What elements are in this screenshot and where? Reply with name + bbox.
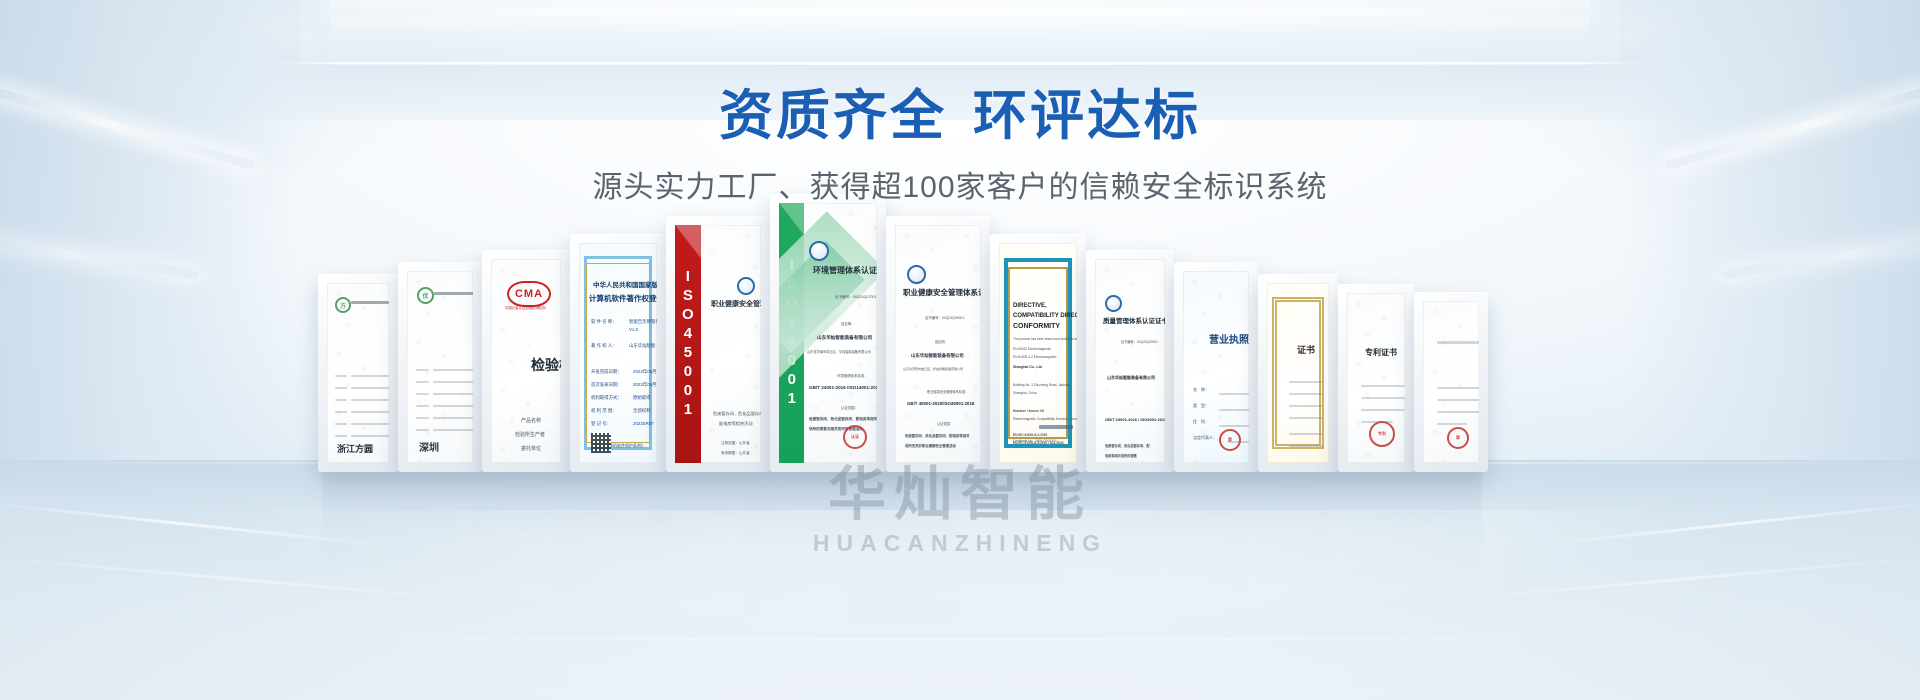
text-line [416,393,429,395]
standard-value: GB/T 45001-2020/ISO45001:2018 [907,401,974,406]
text-line [433,393,473,395]
reflection [960,472,1064,642]
headline-part-1: 资质齐全 [719,86,947,146]
certificate-number: 证书编号：00Q24Q09001 [925,315,964,320]
certificate-label: 开发完成日期： [591,369,622,375]
scope-line1: 危废暂存间、危化品暂存间、配电房等相关 [905,433,969,438]
text-line [433,381,473,383]
text-line [416,405,429,407]
text-line [1289,417,1323,419]
gold-border [1272,297,1324,448]
certificate-title: 专利证书 [1365,347,1397,358]
scope-label: 认证范围： [841,405,858,410]
certificate-body-line1: 危废暂存间、危化品暂存间 [713,411,761,417]
certificate-number: 证书编号：00Q24Q27001 [835,295,877,300]
ce-title-line3: CONFORMITY [1013,323,1060,330]
certification-banner: 资质齐全环评达标 源头实力工厂、获得超100家客户的信赖安全标识系统 方 [0,0,1920,700]
text-line [1437,423,1467,425]
text-line [416,369,429,371]
reflection [1332,472,1410,600]
certificate-paper: 质量管理体系认证证书 证书编号：00Q24Q02001 山东华灿智能装备有限公司… [1095,259,1165,463]
certificate-title: 营业执照 [1209,331,1249,346]
text-line [416,417,429,419]
certificate-frame[interactable]: 职业健康安全管理体系认证证书 证书编号：00Q24Q09001 兹证明： 山东华… [886,216,990,472]
certificate-frame[interactable]: CMA 中国计量认证检验检测机构 检验检测报告 产品名称 检验所生产者 委托单位 [482,250,570,472]
certificate-value: V1.0 [629,327,638,332]
certificate-value: 智能告示牌管理软件 [629,319,657,325]
text-line [1289,393,1323,395]
certificate-label: 名 称： [1193,387,1209,393]
certificate-title: 环境管理体系认证证书 [813,265,877,276]
text-line [1437,411,1479,413]
standard-value: GB/T 24001-2016 /ISO14001:2015 [809,385,877,390]
reflection [322,472,394,592]
certificate-frame[interactable]: 营业执照 名 称： 类 型： 住 所： 法定代表人： 章 [1174,262,1258,472]
page-subtitle: 源头实力工厂、获得超100家客户的信赖安全标识系统 [0,162,1920,206]
value-line [1219,425,1249,427]
certificate-org: 浙江方圆 [337,442,373,455]
ce-body-line: Shanghai Co., Ltd [1013,365,1042,369]
text-line [335,411,347,413]
certificate-label: 检验所生产者 [515,431,545,438]
paper-watermark [895,225,981,463]
certificate-title: 检验检测报告 [531,355,561,375]
text-line [1437,341,1479,344]
text-line [1361,397,1405,399]
text-line [351,423,389,425]
certificate-value: 原始取得 [633,395,651,401]
ce-body-line: Certificate No.: 2409-CE04-PG [1013,439,1057,443]
headline-part-2: 环评达标 [973,86,1201,146]
certificate-title: 职业健康安全管理体系认证证书 [711,299,761,309]
reflection [644,472,740,628]
text-line [335,387,347,389]
text-line [1289,405,1323,407]
text-line [351,301,389,304]
accreditation-logo-icon [809,241,829,261]
certificate-value: 山东华灿智能 [629,343,655,349]
ce-body-line: Building No. 3 Zhuzhong Road, Jiadong [1013,383,1069,387]
text-line [433,405,473,407]
certificate-frame[interactable]: 证书 [1258,274,1338,472]
standard-label: 环境管理体系标准： [837,373,868,378]
iso45001-label: ISO45001 [679,268,696,420]
reflection [554,472,644,618]
certificate-paper: 证书 [1267,283,1329,463]
paper-watermark [407,271,473,463]
certificate-paper: 专利证书 专利 [1347,293,1405,463]
certificate-company-label: 兹证明： [841,321,855,326]
certificate-company-label: 兹证明： [935,339,948,344]
certificate-org: 深圳 [419,439,439,454]
text-line [1289,445,1323,447]
certificate-label: 法定代表人： [1193,435,1217,441]
certificate-label: 权利取得方式： [591,395,622,401]
text-line [434,292,473,295]
ce-body-line: Number / Annex VII [1013,409,1044,413]
cma-badge-sub: 中国计量认证检验检测机构 [505,305,546,310]
text-line [335,399,347,401]
text-line [351,387,389,389]
certificate-value: 2023年06月 [633,382,656,388]
certificate-label: 类 型： [1193,403,1209,409]
ornament-border-inner [586,263,650,443]
certificate-frame[interactable]: ISO14001 环境管理体系认证证书 证书编号：00Q24Q27001 兹证明… [770,194,886,472]
ce-title-line1: DIRECTIVE, [1013,303,1047,309]
reflection [1410,472,1482,592]
reflection [394,472,472,600]
certificate-wall: 方 浙江方圆 优 [0,172,1920,472]
ce-body-line: EN 55032 Electromagnetic [1013,347,1051,351]
value-line [1219,409,1249,411]
certificate-value: 2023年05月 [633,369,656,375]
certificate-label: 权 利 范 围： [591,408,617,414]
certificate-label: 著 作 权 人： [591,343,617,349]
cma-badge-icon: CMA [507,281,551,307]
certificate-company: 山东华灿智能装备有限公司 [817,335,872,341]
certificate-paper: 中华人民共和国国家版权局 计算机软件著作权登记证书 软 件 名 称： 智能告示牌… [579,243,657,463]
shenzhen-logo-icon: 优 [417,287,434,304]
certificate-label: 住 所： [1193,419,1209,425]
text-line [335,375,347,377]
certificate-frame[interactable]: 质量管理体系认证证书 证书编号：00Q24Q02001 山东华灿智能装备有限公司… [1086,250,1174,472]
certificate-title: 证书 [1297,343,1315,356]
certificate-frame[interactable]: 优 深圳 [398,262,482,472]
certificate-label: 首次发表日期： [591,382,622,388]
certificate-paper: 优 深圳 [407,271,473,463]
certificate-label: 产品名称 [521,417,541,424]
certificate-paper: DIRECTIVE, COMPATIBILITY DIRECTIVE CONFO… [999,243,1077,463]
certificate-frame[interactable]: 中华人民共和国国家版权局 计算机软件著作权登记证书 软 件 名 称： 智能告示牌… [570,234,666,472]
text-line [416,429,429,431]
certificate-frame[interactable]: 章 [1414,292,1488,472]
reflection [844,472,960,658]
certificate-company: 山东华灿智能装备有限公司 [1107,375,1155,381]
certificate-paper: 营业执照 名 称： 类 型： 住 所： 法定代表人： 章 [1183,271,1249,463]
scope-line2: 场所无关的职业健康安全管理活动 [905,443,956,448]
certificate-footer2: 有效期限：山东省 [721,451,750,456]
certificate-paper: 职业健康安全管理体系认证证书 证书编号：00Q24Q09001 兹证明： 山东华… [895,225,981,463]
certificate-label: 软 件 名 称： [591,319,617,325]
accreditation-logo-icon [737,277,755,295]
certificate-paper: 章 [1423,301,1479,463]
ce-border-inner [1008,267,1069,439]
certificate-value: 2023SR07 [633,421,654,426]
text-line [351,399,389,401]
text-line [1361,385,1405,387]
certificate-frame[interactable]: 方 浙江方圆 [318,274,398,472]
scope-line1: 危废暂存间、危化品暂存间、配 [1105,443,1150,448]
ce-body-line: Electromagnetic Compatibility Directive … [1013,417,1077,421]
certificate-title: 职业健康安全管理体系认证证书 [903,287,981,298]
reflection [1064,472,1160,628]
standard-value: GB/T 19001-2016 / ISO9001:2015 [1105,417,1165,422]
text-line [416,381,429,383]
certificate-paper: 方 浙江方圆 [327,283,389,463]
ce-body-line: EN IEC 61000-6-2:2019 [1013,433,1047,437]
text-line [433,369,473,371]
certificate-address: 山东省济南市章丘区，华灿智能装备有限公司 [903,367,963,371]
certificate-label: 登 记 号： [591,421,611,427]
ce-body-line: EN 61000-3-2 Electromagnetic [1013,355,1057,359]
text-line [1361,409,1405,411]
certificate-frame[interactable]: 专利证书 专利 [1338,284,1414,472]
signature-line [1039,425,1073,429]
certificate-footer1: 注册范围：山东省 [721,441,750,446]
page-title: 资质齐全环评达标 [0,86,1920,146]
certificate-title-line1: 中华人民共和国国家版权局 [593,279,657,289]
certificate-label: 委托单位 [521,445,541,452]
red-stamp-icon: 章 [1219,429,1241,451]
reflection [740,472,844,642]
text-line [335,435,347,437]
text-line [335,423,347,425]
certificate-paper: CMA 中国计量认证检验检测机构 检验检测报告 产品名称 检验所生产者 委托单位 [491,259,561,463]
ce-body-line: Shanghai, China [1013,391,1037,395]
patent-stamp-icon: 专利 [1369,421,1395,447]
certificate-address: 山东省济南市章丘区，华灿智能装备有限公司 [807,349,871,354]
reflection [1160,472,1250,618]
ce-title-line2: COMPATIBILITY DIRECTIVE [1013,313,1077,319]
certificate-value: 全部权利 [633,408,651,414]
reflection [472,472,554,608]
qr-code [591,433,611,453]
iso45001-band: ISO45001 [675,225,701,463]
scope-line1: 危废暂存间、危化品暂存间、配电房等相关 [809,417,877,422]
accreditation-logo-icon [1105,295,1122,312]
scope-line2: 电房等相关场所的销售 [1105,453,1137,458]
reflection [1250,472,1332,608]
certificate-title-line2: 计算机软件著作权登记证书 [589,293,657,304]
standard-label: 职业健康安全管理体系标准： [927,389,968,394]
ce-body-line: The product has been tested and audit ha… [1013,337,1077,341]
accreditation-logo-icon [907,265,926,284]
zhejiang-logo-icon: 方 [335,297,351,313]
red-stamp-icon: 认证 [843,425,867,449]
certificate-title: 质量管理体系认证证书 [1103,315,1165,325]
certificate-body-line2: 配电房等相关活动 [719,421,753,427]
certificate-paper: ISO45001 职业健康安全管理体系认证证书 危废暂存间、危化品暂存间 配电房… [675,225,761,463]
paper-watermark [1095,259,1165,463]
text-line [351,411,389,413]
text-line [1437,399,1479,401]
cma-badge-label: CMA [515,288,543,300]
certificate-company: 山东华灿智能装备有限公司 [911,353,964,359]
reflection-row [0,472,1920,700]
certificate-paper: ISO14001 环境管理体系认证证书 证书编号：00Q24Q27001 兹证明… [779,203,877,463]
value-line [1219,393,1249,395]
certificate-frame[interactable]: ISO45001 职业健康安全管理体系认证证书 危废暂存间、危化品暂存间 配电房… [666,216,770,472]
certificate-number: 证书编号：00Q24Q02001 [1121,339,1158,344]
ceiling-light-center [330,8,1590,15]
red-stamp-icon: 章 [1447,427,1469,449]
scope-label: 认证范围： [937,421,953,426]
certificate-frame[interactable]: DIRECTIVE, COMPATIBILITY DIRECTIVE CONFO… [990,234,1086,472]
text-line [433,417,473,419]
headline-block: 资质齐全环评达标 源头实力工厂、获得超100家客户的信赖安全标识系统 [0,86,1920,206]
text-line [1289,381,1323,383]
text-line [351,375,389,377]
text-line [1289,433,1323,435]
text-line [1437,387,1479,389]
text-line [351,435,389,437]
text-line [433,429,473,431]
